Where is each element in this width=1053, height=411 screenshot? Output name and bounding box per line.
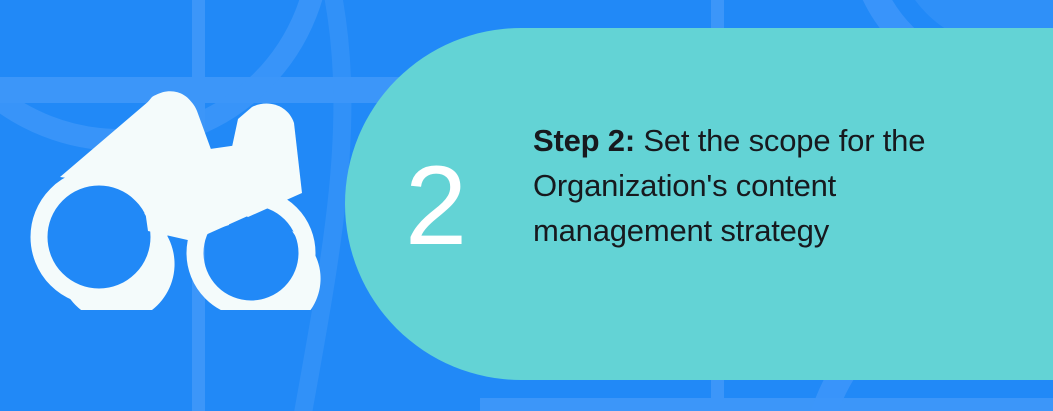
step-label: Step 2:: [533, 123, 635, 158]
step-card: 2 Step 2: Set the scope for the Organiza…: [0, 0, 1053, 411]
binoculars-icon: [24, 85, 324, 310]
step-description: Step 2: Set the scope for the Organizati…: [533, 118, 963, 253]
step-number: 2: [376, 146, 496, 266]
binoculars-left-lens-ring: [39, 177, 159, 297]
